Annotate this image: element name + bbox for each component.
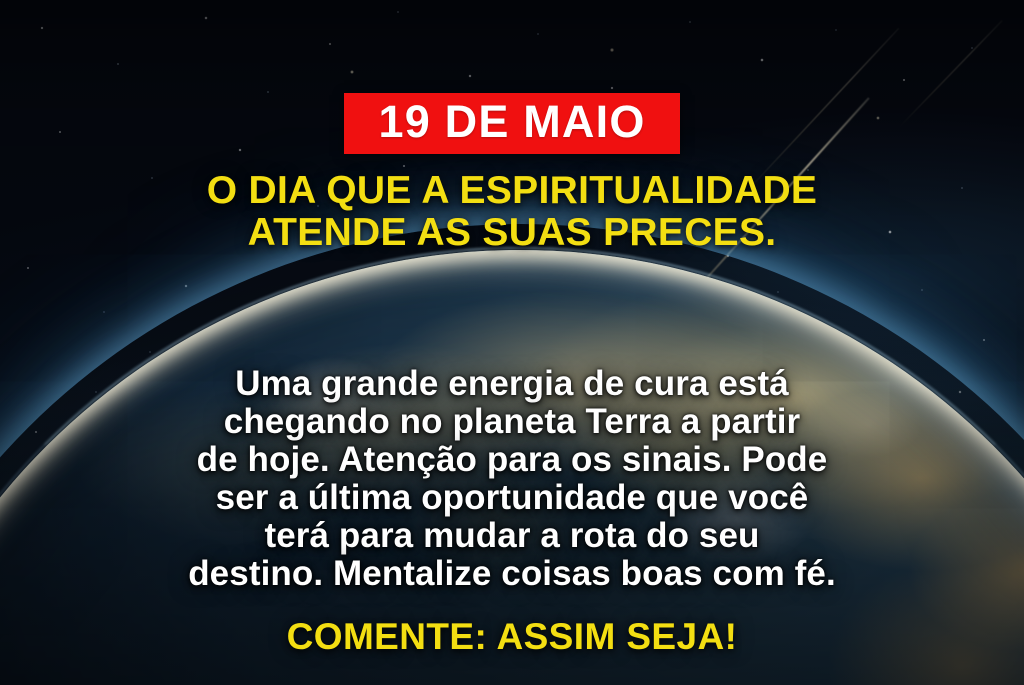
poster-content: 19 DE MAIO O DIA QUE A ESPIRITUALIDADE A… [0, 0, 1024, 685]
call-to-action-text: COMENTE: ASSIM SEJA! [287, 617, 738, 657]
body-line: chegando no planeta Terra a partir [47, 403, 977, 441]
headline: O DIA QUE A ESPIRITUALIDADE ATENDE AS SU… [52, 170, 972, 254]
headline-line-1: O DIA QUE A ESPIRITUALIDADE [207, 169, 817, 212]
body-line: terá para mudar a rota do seu [47, 517, 977, 555]
body-line: ser a última oportunidade que você [47, 479, 977, 517]
body-line: destino. Mentalize coisas boas com fé. [47, 555, 977, 593]
date-banner: 19 DE MAIO [344, 93, 679, 154]
headline-line-2: ATENDE AS SUAS PRECES. [248, 211, 777, 254]
body-paragraph: Uma grande energia de cura está chegando… [47, 365, 977, 593]
body-line: de hoje. Atenção para os sinais. Pode [47, 441, 977, 479]
date-banner-text: 19 DE MAIO [378, 99, 645, 145]
poster-canvas: 19 DE MAIO O DIA QUE A ESPIRITUALIDADE A… [0, 0, 1024, 685]
body-line: Uma grande energia de cura está [47, 365, 977, 403]
